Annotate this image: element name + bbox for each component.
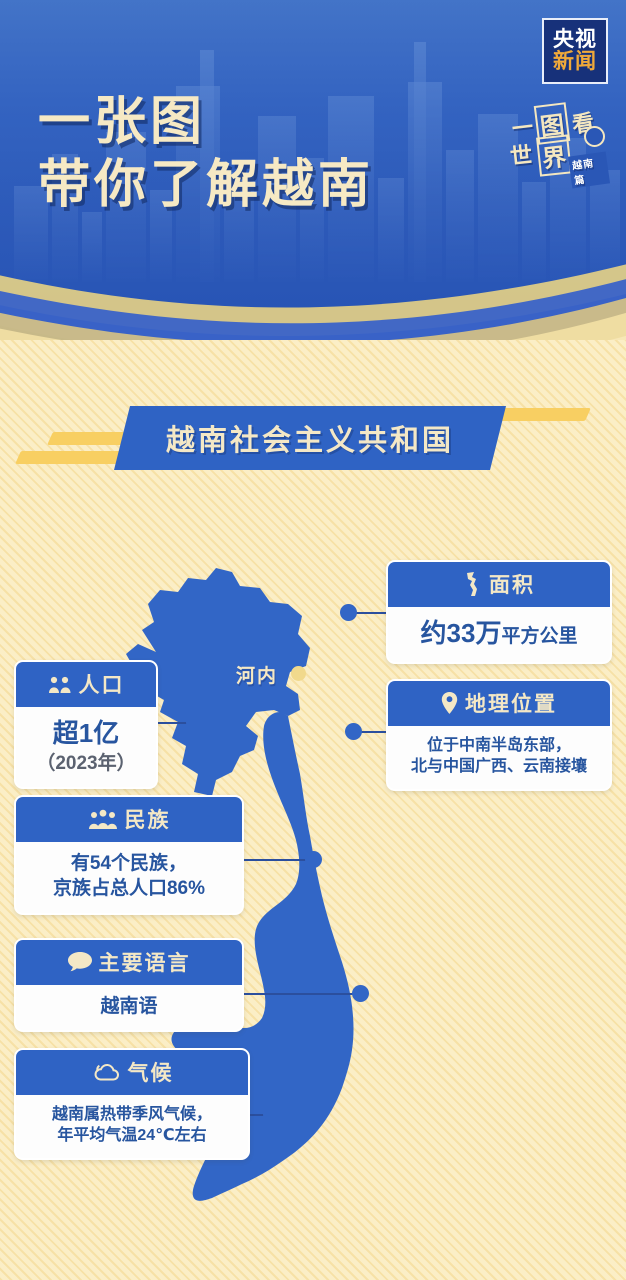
card-header-language: 主要语言 bbox=[16, 940, 242, 985]
card-body-language: 越南语 bbox=[16, 985, 242, 1030]
connector-dot-population bbox=[186, 714, 203, 731]
card-text-geography-line-1: 位于中南半岛东部， bbox=[398, 735, 600, 756]
card-title-geography: 地理位置 bbox=[465, 688, 557, 718]
wave-decoration bbox=[0, 208, 626, 340]
connector-line-ethnicity bbox=[238, 859, 310, 861]
headline-line-2: 带你了解越南 bbox=[38, 159, 374, 212]
poster-header: 一张图 带你了解越南 央视 新闻 一 图 看 世 界 越南篇 bbox=[0, 0, 626, 340]
card-header-area: 面积 bbox=[388, 562, 610, 607]
series-subtitle: 越南篇 bbox=[568, 152, 610, 189]
card-text-population-line-1: 超1亿 bbox=[26, 716, 146, 751]
location-pin-icon bbox=[441, 692, 458, 714]
connector-dot-language bbox=[352, 985, 369, 1002]
card-header-population: 人口 bbox=[16, 662, 156, 707]
info-card-area[interactable]: 面积 约33万平方公里 bbox=[386, 560, 612, 664]
people-group-icon bbox=[48, 675, 72, 694]
headline-line-1: 一张图 bbox=[38, 96, 374, 149]
card-text-area: 约33万平方公里 bbox=[398, 616, 600, 651]
capital-dot bbox=[291, 666, 306, 681]
card-text-ethnicity-line-1: 有54个民族， bbox=[26, 851, 232, 876]
connector-dot-climate bbox=[263, 1106, 280, 1123]
logo-line-1: 央视 bbox=[553, 29, 597, 50]
connector-line-area bbox=[352, 612, 388, 614]
card-text-area-line-2: 平方公里 bbox=[501, 626, 577, 647]
speech-bubble-icon bbox=[68, 952, 92, 972]
info-card-geography[interactable]: 地理位置 位于中南半岛东部， 北与中国广西、云南接壤 bbox=[386, 679, 612, 791]
card-title-ethnicity: 民族 bbox=[125, 804, 171, 834]
card-text-area-line-1: 约33万 bbox=[421, 618, 502, 648]
card-body-population: 超1亿 （2023年） bbox=[16, 707, 156, 787]
info-card-climate[interactable]: 气候 越南属热带季风气候， 年平均气温24℃左右 bbox=[14, 1048, 250, 1160]
card-body-ethnicity: 有54个民族， 京族占总人口86% bbox=[16, 842, 242, 913]
card-header-geography: 地理位置 bbox=[388, 681, 610, 726]
card-text-climate-line-2: 年平均气温24℃左右 bbox=[26, 1125, 238, 1146]
series-badge: 一 图 看 世 界 越南篇 bbox=[510, 104, 608, 182]
info-card-ethnicity[interactable]: 民族 有54个民族， 京族占总人口86% bbox=[14, 795, 244, 915]
card-body-area: 约33万平方公里 bbox=[388, 607, 610, 662]
series-char-5: 界 bbox=[536, 134, 572, 176]
card-text-language-line-1: 越南语 bbox=[26, 994, 232, 1019]
card-header-climate: 气候 bbox=[16, 1050, 248, 1095]
poster-headline: 一张图 带你了解越南 bbox=[38, 96, 374, 212]
connector-line-geography bbox=[358, 731, 388, 733]
capital-label: 河内 bbox=[236, 661, 278, 688]
card-title-area: 面积 bbox=[489, 569, 535, 599]
card-header-ethnicity: 民族 bbox=[16, 797, 242, 842]
connector-dot-area bbox=[340, 604, 357, 621]
section-banner-wrapper: 越南社会主义共和国 bbox=[0, 398, 626, 480]
section-banner: 越南社会主义共和国 bbox=[114, 406, 506, 470]
card-body-geography: 位于中南半岛东部， 北与中国广西、云南接壤 bbox=[388, 726, 610, 789]
card-title-language: 主要语言 bbox=[99, 947, 191, 977]
connector-line-language bbox=[238, 993, 356, 995]
info-card-language[interactable]: 主要语言 越南语 bbox=[14, 938, 244, 1032]
three-people-icon bbox=[88, 809, 118, 830]
logo-line-2: 新闻 bbox=[553, 50, 597, 73]
cctv-news-logo: 央视 新闻 bbox=[542, 18, 608, 84]
card-body-climate: 越南属热带季风气候， 年平均气温24℃左右 bbox=[16, 1095, 248, 1158]
cloud-icon bbox=[91, 1062, 121, 1082]
card-text-ethnicity-line-2: 京族占总人口86% bbox=[26, 876, 232, 901]
connector-dot-geography bbox=[345, 723, 362, 740]
card-title-population: 人口 bbox=[79, 669, 125, 699]
section-banner-title: 越南社会主义共和国 bbox=[166, 417, 454, 459]
card-title-climate: 气候 bbox=[128, 1057, 174, 1087]
card-text-climate-line-1: 越南属热带季风气候， bbox=[26, 1104, 238, 1125]
card-text-geography-line-2: 北与中国广西、云南接壤 bbox=[398, 756, 600, 777]
connector-dot-ethnicity bbox=[305, 851, 322, 868]
globe-icon bbox=[584, 126, 605, 147]
vietnam-map-icon bbox=[463, 572, 482, 597]
info-card-population[interactable]: 人口 超1亿 （2023年） bbox=[14, 660, 158, 789]
infographic-poster: 一张图 带你了解越南 央视 新闻 一 图 看 世 界 越南篇 bbox=[0, 0, 626, 1280]
series-char-4: 世 bbox=[508, 137, 533, 171]
card-text-population-line-2: （2023年） bbox=[26, 751, 146, 776]
